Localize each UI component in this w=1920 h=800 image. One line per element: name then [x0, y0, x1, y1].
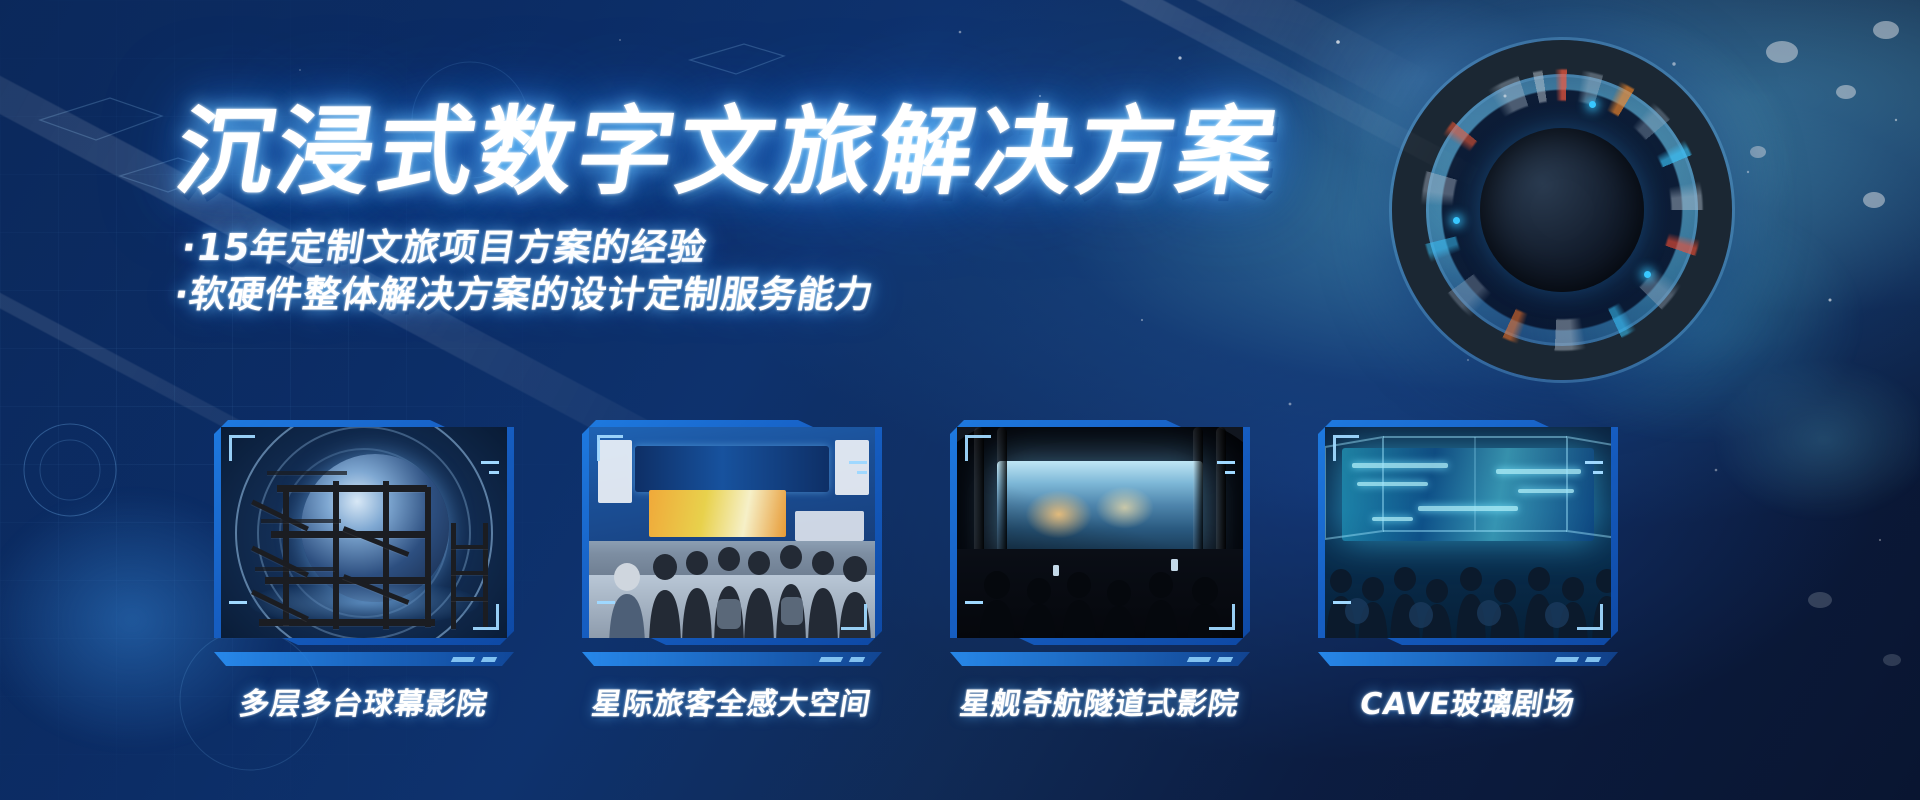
corner-bracket-icon: [965, 435, 991, 461]
hud-tick-icon: [1585, 461, 1603, 464]
corner-bracket-icon: [841, 604, 867, 630]
corner-bracket-icon: [1577, 604, 1603, 630]
subtitle-line-2: ·软硬件整体解决方案的设计定制服务能力: [170, 271, 1278, 318]
title-block: 沉浸式数字文旅解决方案 ·15年定制文旅项目方案的经验 ·软硬件整体解决方案的设…: [178, 104, 1278, 319]
corner-bracket-icon: [1209, 604, 1235, 630]
cave-structure: [1325, 427, 1611, 638]
hud-tick-icon: [489, 471, 499, 474]
hud-dash-icon: [451, 657, 475, 662]
hud-tick-icon: [1333, 601, 1351, 604]
page-title: 沉浸式数字文旅解决方案: [170, 104, 1286, 202]
card-caption: 星舰奇航隧道式影院: [947, 679, 1254, 723]
card-image: [589, 427, 875, 638]
card-image: [1325, 427, 1611, 638]
card-frame[interactable]: [1318, 420, 1618, 645]
showcase-card-row: 多层多台球幕影院: [214, 420, 1618, 723]
card-image: [221, 427, 507, 638]
hud-tick-icon: [597, 601, 615, 604]
promo-banner: 沉浸式数字文旅解决方案 ·15年定制文旅项目方案的经验 ·软硬件整体解决方案的设…: [0, 0, 1920, 800]
hud-tick-icon: [965, 601, 983, 604]
hud-dash-icon: [1187, 657, 1211, 662]
scene-multi-level-dome-theater: [221, 427, 507, 638]
hud-tick-icon: [1593, 471, 1603, 474]
hud-tick-icon: [849, 461, 867, 464]
subtitle-line-1: ·15年定制文旅项目方案的经验: [178, 224, 1286, 271]
scene-exhibition-booth-crowd: [589, 427, 875, 638]
hud-dash-icon: [1217, 657, 1233, 662]
card-caption: 多层多台球幕影院: [211, 679, 518, 723]
card-frame[interactable]: [950, 420, 1250, 645]
showcase-card[interactable]: CAVE玻璃剧场: [1318, 420, 1618, 723]
hud-dash-icon: [819, 657, 843, 662]
scene-cave-glass-theater-audience: [1325, 427, 1611, 638]
card-frame[interactable]: [582, 420, 882, 645]
card-caption: CAVE玻璃剧场: [1315, 679, 1622, 723]
showcase-card[interactable]: 多层多台球幕影院: [214, 420, 514, 723]
showcase-card[interactable]: 星舰奇航隧道式影院: [950, 420, 1250, 723]
subtitle-list: ·15年定制文旅项目方案的经验 ·软硬件整体解决方案的设计定制服务能力: [170, 224, 1285, 319]
card-frame[interactable]: [214, 420, 514, 645]
corner-bracket-icon: [1333, 435, 1359, 461]
hud-dash-icon: [481, 657, 497, 662]
hud-tick-icon: [1225, 471, 1235, 474]
hud-tick-icon: [481, 461, 499, 464]
hud-dash-icon: [1585, 657, 1601, 662]
card-caption: 星际旅客全感大空间: [579, 679, 886, 723]
hud-dash-icon: [849, 657, 865, 662]
crowd-silhouettes: [589, 427, 875, 638]
corner-bracket-icon: [473, 604, 499, 630]
card-image: [957, 427, 1243, 638]
corner-bracket-icon: [597, 435, 623, 461]
hud-tick-icon: [229, 601, 247, 604]
showcase-card[interactable]: 星际旅客全感大空间: [582, 420, 882, 723]
hud-tick-icon: [857, 471, 867, 474]
scene-tunnel-theater-cabin: [957, 427, 1243, 638]
hud-dash-icon: [1555, 657, 1579, 662]
corner-bracket-icon: [229, 435, 255, 461]
audience-silhouettes: [957, 427, 1243, 638]
hud-tick-icon: [1217, 461, 1235, 464]
